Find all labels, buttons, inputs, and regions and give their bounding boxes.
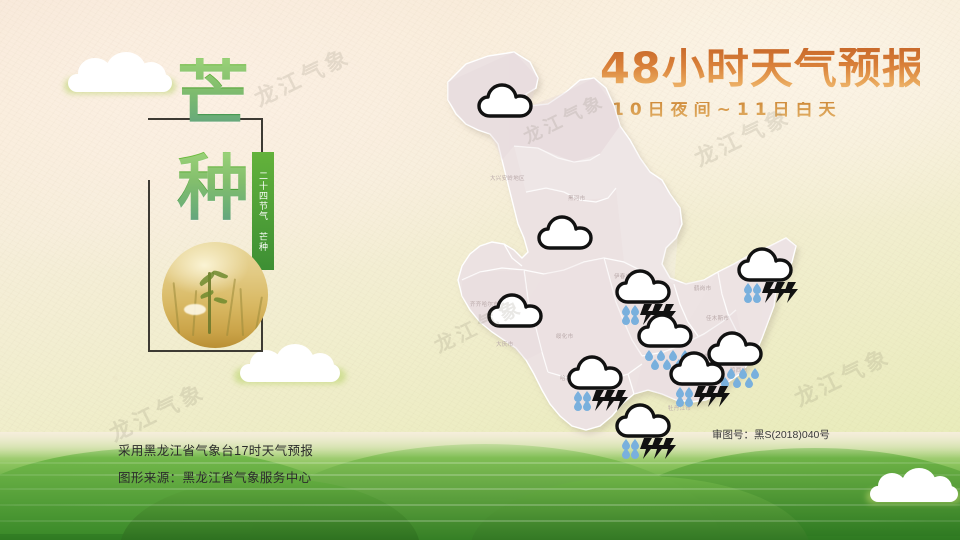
solar-term-vertical-label: 二十四节气 芒种 (252, 152, 274, 270)
frame-line-bottom (148, 350, 263, 352)
thunderstorm-icon[interactable] (614, 266, 676, 316)
heilongjiang-map[interactable]: 大兴安岭地区黑河市伊春市齐齐哈尔市鹤岗市佳木斯市双鸭山市大庆市绥化市七台河市哈尔… (418, 22, 838, 462)
cloudy-icon[interactable] (486, 290, 548, 340)
decorative-cloud-icon (866, 468, 960, 508)
thunderstorm-icon[interactable] (668, 348, 730, 398)
wheat-field-photo (162, 242, 268, 348)
city-label: 鹤岗市 (694, 284, 711, 292)
solar-term-char-top: 芒 (148, 58, 278, 130)
cloudy-icon[interactable] (476, 80, 538, 130)
footer-note-line2: 图形来源：黑龙江省气象服务中心 (118, 467, 312, 486)
terrace-line (0, 520, 960, 522)
map-approval-number: 审图号：黑S(2018)040号 (712, 427, 830, 442)
thunderstorm-icon[interactable] (614, 400, 676, 450)
terrace-line (0, 504, 960, 506)
terrace-line (0, 488, 960, 490)
city-label: 绥化市 (556, 332, 573, 340)
thunderstorm-icon[interactable] (736, 244, 798, 294)
weather-forecast-poster: 芒 种 二十四节气 芒种 48小时天气预报 10日夜间~11日白天 (0, 0, 960, 540)
footer-note-line1: 采用黑龙江省气象台17时天气预报 (118, 440, 313, 459)
city-label: 大兴安岭地区 (490, 174, 525, 182)
city-label: 佳木斯市 (706, 314, 729, 322)
terrace-line (0, 462, 960, 464)
city-label: 黑河市 (568, 194, 585, 202)
cloudy-icon[interactable] (536, 212, 598, 262)
thunderstorm-icon[interactable] (566, 352, 628, 402)
